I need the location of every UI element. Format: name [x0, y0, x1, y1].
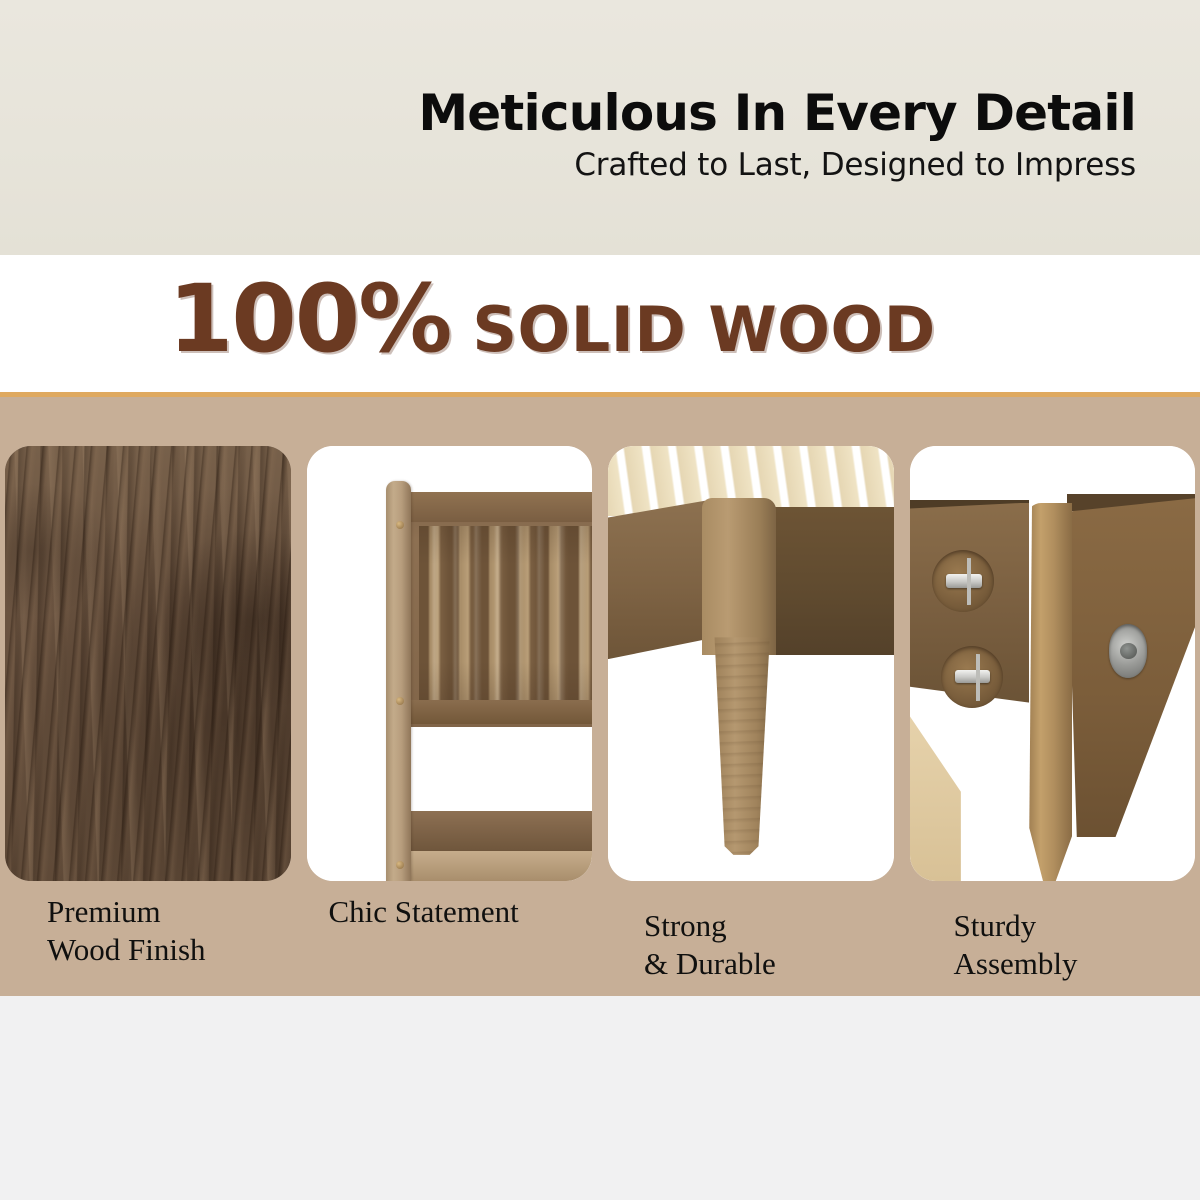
headboard-side-post — [386, 481, 410, 881]
hero-text-block: Meticulous In Every Detail Crafted to La… — [418, 88, 1136, 182]
caption-premium-wood-finish: Premium Wood Finish — [5, 893, 289, 984]
headboard-mid-rail — [409, 700, 592, 724]
tapered-leg — [711, 637, 774, 855]
plywood-panel — [910, 716, 961, 881]
feature-panel-sturdy-assembly[interactable] — [910, 446, 1196, 881]
corner-post — [1027, 503, 1073, 881]
page-title: Meticulous In Every Detail — [418, 88, 1136, 139]
bolt-icon — [941, 646, 1003, 708]
footer-spacer — [0, 996, 1200, 1200]
badge-material: SOLID WOOD — [472, 299, 935, 361]
badge-percent: 100% — [168, 273, 450, 367]
bed-end-rail — [771, 507, 894, 655]
product-feature-infographic: Meticulous In Every Detail Crafted to La… — [0, 0, 1200, 1200]
bed-frame-corner-tapered-leg-image — [608, 446, 894, 881]
badge-text-row: 100% SOLID WOOD — [168, 273, 936, 367]
feature-panel-premium-wood-finish[interactable] — [5, 446, 291, 881]
page-subtitle: Crafted to Last, Designed to Impress — [418, 149, 1136, 182]
feature-image-row — [0, 446, 1200, 881]
hero-band: Meticulous In Every Detail Crafted to La… — [0, 0, 1200, 255]
feature-panel-chic-statement[interactable] — [307, 446, 593, 881]
caption-sturdy-assembly: Sturdy Assembly — [902, 893, 1196, 984]
headboard-top-rail — [409, 492, 592, 522]
wood-grain-finish-swatch-image — [5, 446, 291, 881]
headboard-carved-slats — [419, 526, 592, 700]
caption-strong-durable: Strong & Durable — [586, 893, 886, 984]
carved-slat-headboard-image — [307, 446, 593, 881]
feature-panel-strong-durable[interactable] — [608, 446, 894, 881]
caption-chic-statement: Chic Statement — [305, 893, 571, 984]
screw-icon — [396, 861, 404, 869]
headboard-base-slat — [409, 851, 592, 881]
screw-icon — [396, 521, 404, 529]
bolt-and-camlock-hardware-image — [910, 446, 1196, 881]
feature-gallery-section: Premium Wood Finish Chic Statement Stron… — [0, 392, 1200, 1001]
cam-lock-icon — [1109, 624, 1147, 678]
bed-corner-block — [702, 498, 776, 655]
headboard-lower-rail — [409, 811, 592, 850]
solid-wood-badge-band: 100% SOLID WOOD — [0, 255, 1200, 392]
screw-icon — [396, 697, 404, 705]
feature-caption-row: Premium Wood Finish Chic Statement Stron… — [0, 893, 1200, 984]
